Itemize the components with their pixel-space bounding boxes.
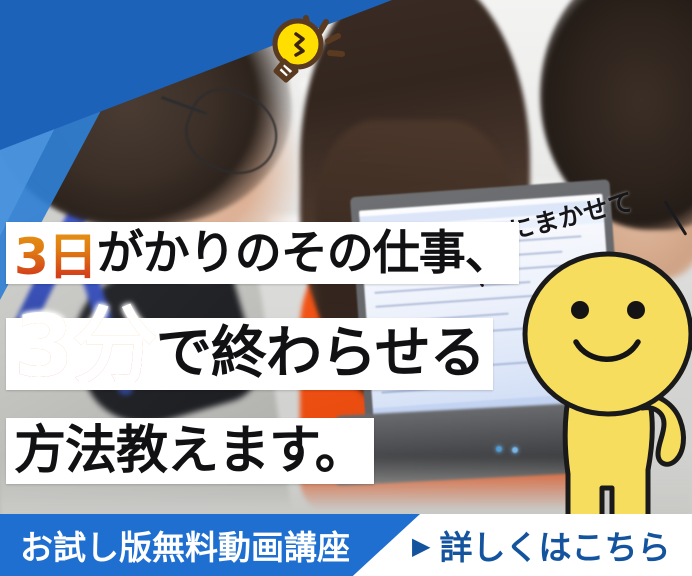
- ad-banner[interactable]: ボクにまかせて 3日 がかりのその仕事、 3分 で終わらせる: [0, 0, 692, 576]
- headline-3-rest: 方法教えます。: [14, 425, 366, 477]
- lightbulb-icon: [262, 8, 354, 84]
- cta-left-label: お試し版無料動画講座: [20, 514, 350, 576]
- cta-right-label: 詳しくはこちら: [439, 521, 670, 569]
- cta-bar[interactable]: お試し版無料動画講座 ▶ 詳しくはこちら: [0, 514, 692, 576]
- headline-band-3: 方法教えます。: [6, 418, 374, 484]
- headline-2-rest: で終わらせる: [156, 326, 485, 382]
- headline-1-accent: 3日: [14, 217, 97, 289]
- yellow-mascot-character: [498, 238, 692, 538]
- mascot-eye-left: [571, 301, 589, 319]
- headline-2-accent: 3分: [14, 314, 156, 381]
- mascot-eye-right: [627, 301, 645, 319]
- headline-band-1: 3日 がかりのその仕事、: [6, 222, 519, 284]
- play-arrow-icon: ▶: [412, 534, 430, 558]
- headline-1-rest: がかりのその仕事、: [97, 230, 511, 277]
- cta-link[interactable]: ▶ 詳しくはこちら: [412, 514, 670, 576]
- headline-band-2: 3分 で終わらせる: [6, 318, 493, 390]
